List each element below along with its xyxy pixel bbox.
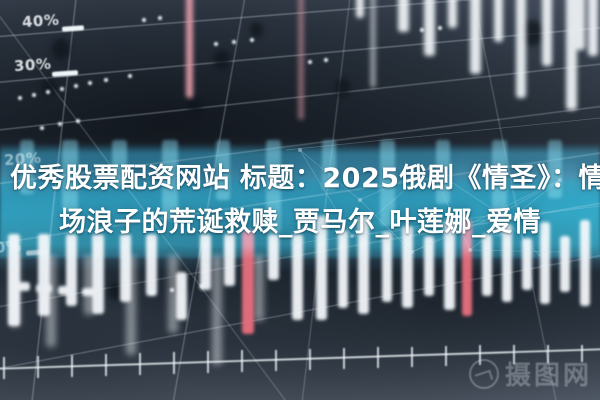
watermark-text: 摄图网 — [505, 355, 592, 392]
screenshot-canvas: 40% 30% 20% 0% 摄图网 优秀股票配资网站 标题：2025俄剧《情圣… — [0, 0, 600, 400]
headline-overlay: 优秀股票配资网站 标题：2025俄剧《情圣》：情 场浪子的荒诞救赎_贾马尔_叶莲… — [0, 158, 600, 243]
axis-dash-30 — [52, 70, 78, 77]
camera-circle-icon — [469, 359, 499, 389]
axis-dash-40 — [62, 25, 84, 32]
axis-dash-0 — [26, 249, 48, 256]
headline-line-2: 场浪子的荒诞救赎_贾马尔_叶莲娜_爱情 — [10, 202, 590, 243]
headline-line-1: 优秀股票配资网站 标题：2025俄剧《情圣》：情 — [10, 158, 590, 199]
axis-label-30: 30% — [13, 55, 52, 76]
axis-label-40: 40% — [21, 11, 60, 32]
watermark: 摄图网 — [469, 355, 592, 392]
